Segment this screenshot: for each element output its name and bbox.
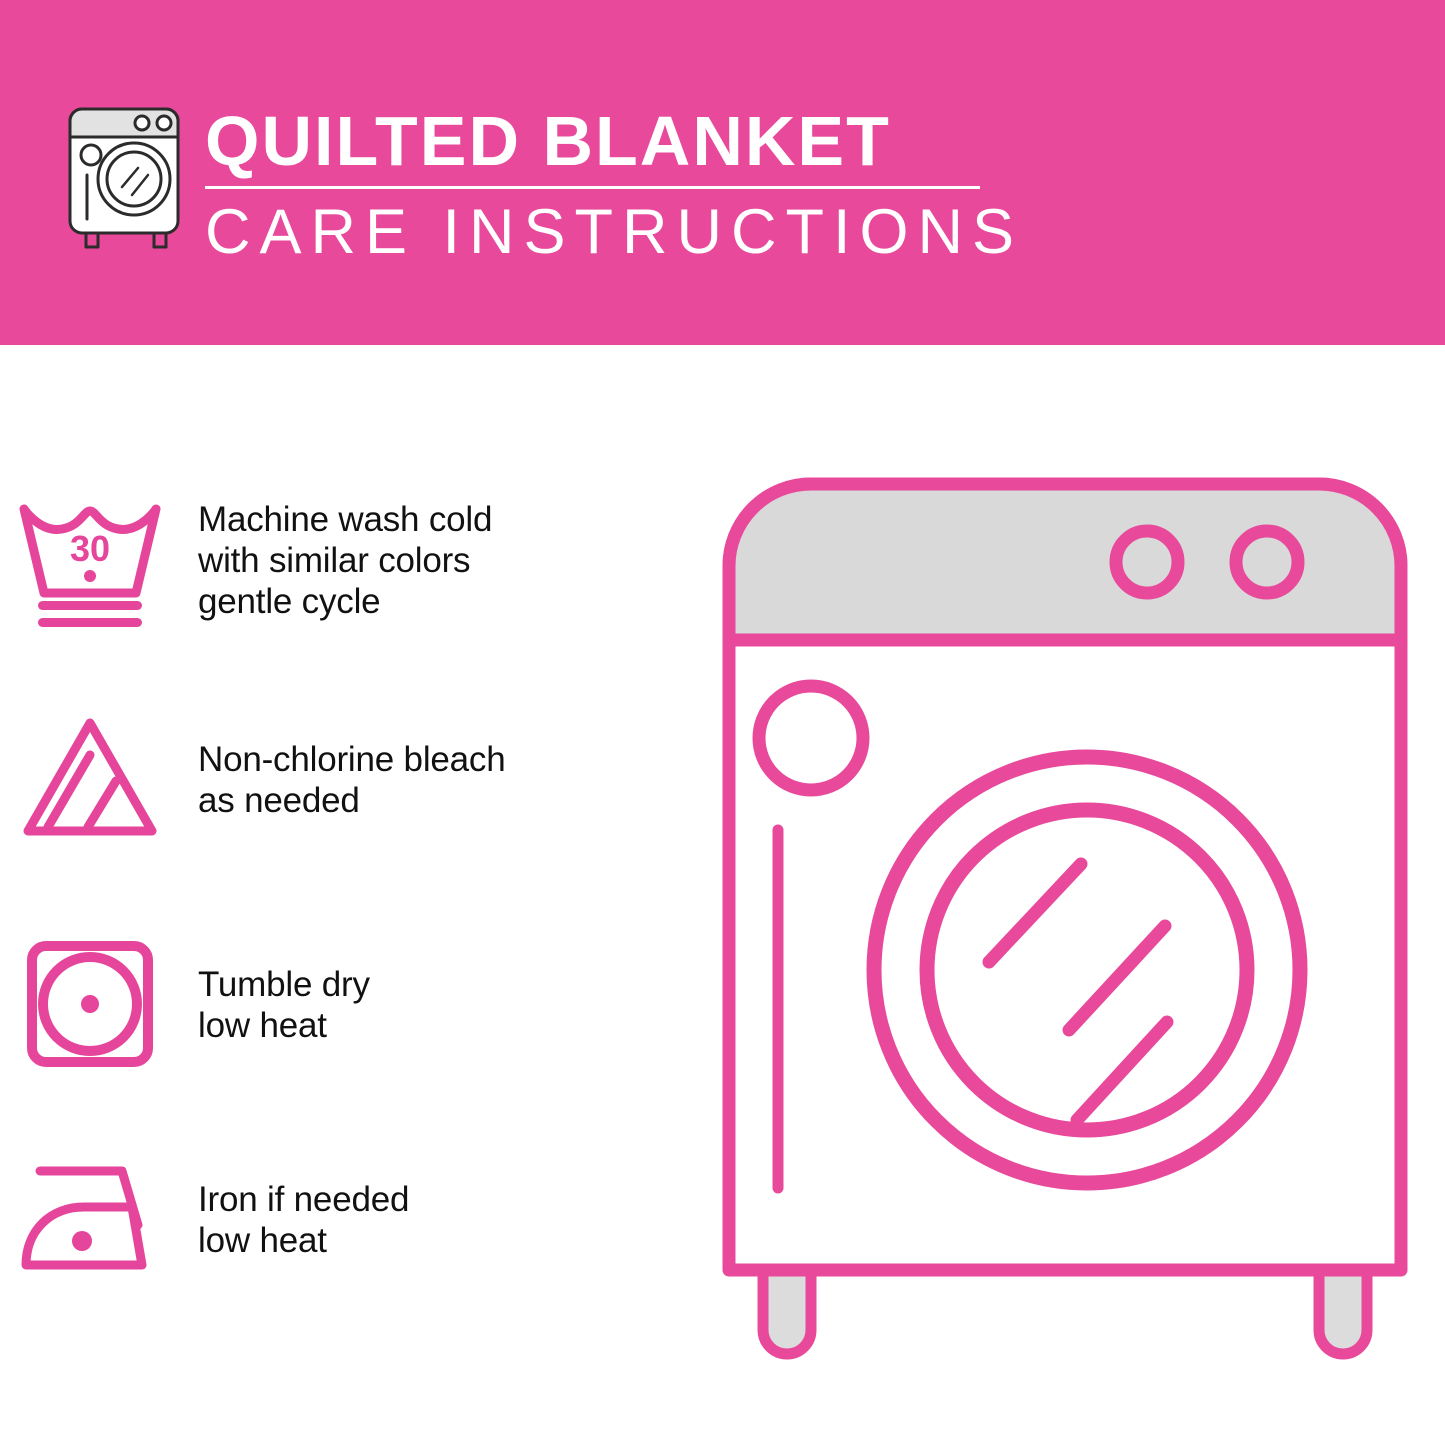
page-title: QUILTED BLANKET bbox=[205, 102, 1005, 180]
instruction-line: Non-chlorine bleach bbox=[198, 739, 506, 780]
instructions-list: 30 Machine wash cold with similar colors… bbox=[0, 345, 700, 1445]
instruction-row-tumble-dry: Tumble dry low heat bbox=[0, 915, 700, 1095]
wash-tub-30-gentle-icon: 30 bbox=[0, 485, 180, 635]
instruction-row-bleach: Non-chlorine bleach as needed bbox=[0, 690, 700, 870]
instruction-text-tumble-dry: Tumble dry low heat bbox=[180, 964, 370, 1046]
instruction-row-wash: 30 Machine wash cold with similar colors… bbox=[0, 465, 700, 655]
instruction-line: low heat bbox=[198, 1220, 409, 1261]
wash-temperature-label: 30 bbox=[70, 528, 110, 569]
tumble-dry-low-heat-icon bbox=[0, 930, 180, 1080]
care-instructions-page: QUILTED BLANKET CARE INSTRUCTIONS 30 bbox=[0, 0, 1445, 1445]
instruction-line: Tumble dry bbox=[198, 964, 370, 1005]
instruction-line: Machine wash cold bbox=[198, 499, 492, 540]
instruction-line: low heat bbox=[198, 1005, 370, 1046]
machine-knob-left bbox=[1116, 531, 1178, 593]
instruction-line: Iron if needed bbox=[198, 1179, 409, 1220]
header-banner: QUILTED BLANKET CARE INSTRUCTIONS bbox=[0, 0, 1445, 345]
instruction-row-iron: Iron if needed low heat bbox=[0, 1130, 700, 1310]
machine-door-inner bbox=[927, 810, 1247, 1130]
instruction-text-wash: Machine wash cold with similar colors ge… bbox=[180, 499, 492, 622]
iron-low-heat-icon bbox=[0, 1145, 180, 1295]
instruction-line: gentle cycle bbox=[198, 581, 492, 622]
instruction-text-iron: Iron if needed low heat bbox=[180, 1179, 409, 1261]
machine-indicator-button bbox=[759, 686, 863, 790]
non-chlorine-bleach-triangle-icon bbox=[0, 705, 180, 855]
machine-knob-right bbox=[1236, 531, 1298, 593]
instruction-text-bleach: Non-chlorine bleach as needed bbox=[180, 739, 506, 821]
title-divider bbox=[205, 186, 980, 189]
page-subtitle: CARE INSTRUCTIONS bbox=[205, 197, 1005, 267]
washing-machine-icon bbox=[62, 103, 190, 253]
front-load-washing-machine-illustration bbox=[715, 470, 1415, 1380]
header-title-group: QUILTED BLANKET CARE INSTRUCTIONS bbox=[205, 102, 1005, 267]
instruction-line: as needed bbox=[198, 780, 506, 821]
instruction-line: with similar colors bbox=[198, 540, 492, 581]
